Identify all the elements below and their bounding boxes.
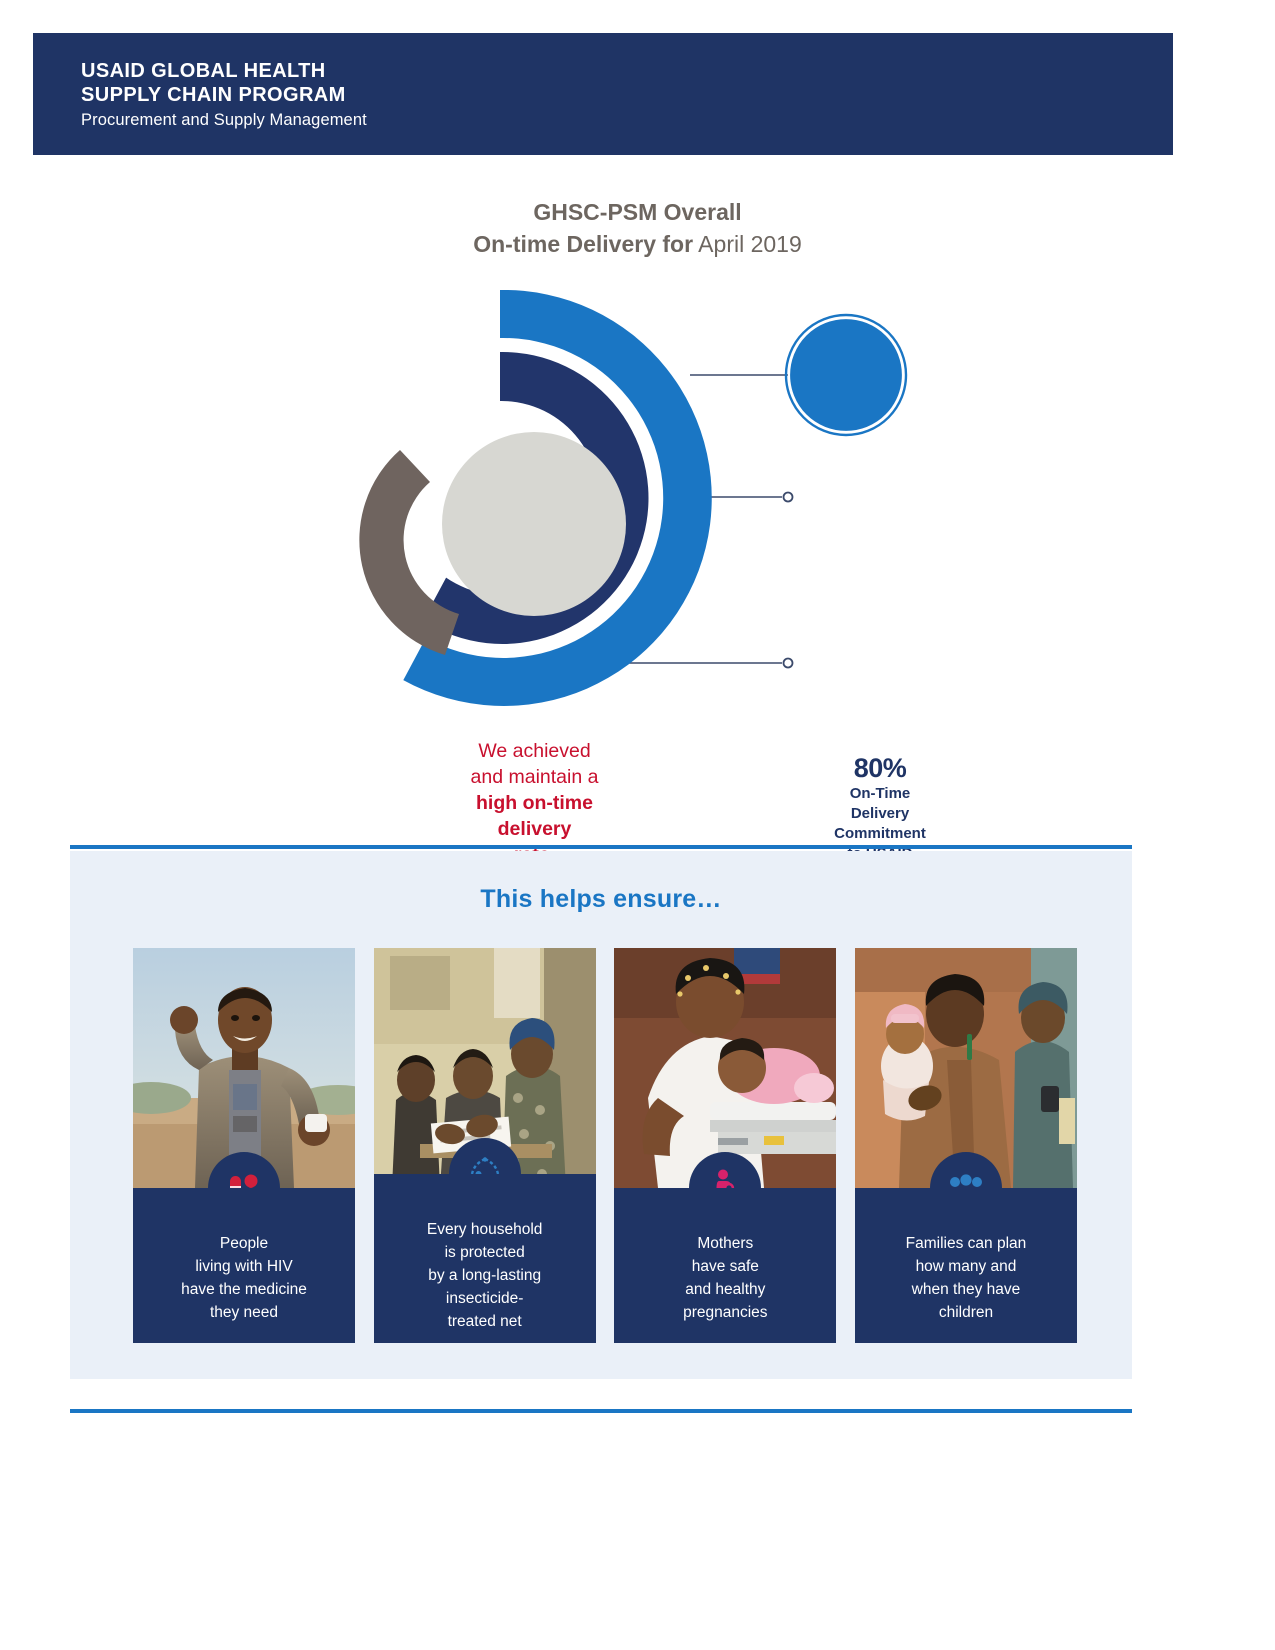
callout-88: 88% On-Time Delivery Rate	[787, 596, 905, 690]
badge-88-circle	[786, 315, 906, 435]
chart-title: GHSC-PSM Overall On-time Delivery for Ap…	[0, 196, 1275, 260]
chart-title-period: April 2019	[693, 231, 802, 257]
chart-title-bold: On-time Delivery for	[473, 231, 693, 257]
benefit-card-mothers[interactable]: Mothers have safe and healthy pregnancie…	[614, 948, 836, 1343]
panel-bottom-rule	[70, 1409, 1132, 1413]
header-bar: USAID GLOBAL HEALTH SUPPLY CHAIN PROGRAM…	[33, 33, 1173, 155]
center-line-3: high on-time	[476, 790, 593, 816]
card-photo-mothers	[614, 948, 836, 1188]
callout-80-value: 80%	[795, 752, 965, 784]
benefit-card-families[interactable]: Families can plan how many and when they…	[855, 948, 1077, 1343]
header-subtitle: Procurement and Supply Management	[81, 109, 367, 131]
card-caption-mothers: Mothers have safe and healthy pregnancie…	[614, 1188, 836, 1343]
card-caption-bednet: Every household is protected by a long-l…	[374, 1174, 596, 1343]
center-disc	[442, 432, 626, 616]
panel-heading: This helps ensure…	[70, 885, 1132, 914]
connector-dot-80	[784, 493, 793, 502]
chart-title-line2: On-time Delivery for April 2019	[0, 228, 1275, 260]
card-photo-bednet	[374, 948, 596, 1174]
bed-net-icon	[466, 1157, 504, 1174]
callout-88-description: On-Time Delivery Rate	[787, 630, 905, 690]
footer-logos: USAID US AID FROM THE AMERICAN PEOPLE PE…	[0, 1460, 1275, 1590]
center-line-2: and maintain a	[471, 764, 599, 790]
pregnant-woman-icon	[712, 1169, 738, 1188]
chart-title-line1: GHSC-PSM Overall	[0, 196, 1275, 228]
chart-svg	[0, 278, 1275, 798]
benefit-card-hiv[interactable]: People living with HIV have the medicine…	[133, 948, 355, 1343]
infographic-page: USAID GLOBAL HEALTH SUPPLY CHAIN PROGRAM…	[0, 0, 1275, 1650]
donut-gauge-chart: We achieved and maintain a high on-time …	[0, 278, 1275, 798]
card-caption-hiv: People living with HIV have the medicine…	[133, 1188, 355, 1343]
header-title-line1: USAID GLOBAL HEALTH	[81, 59, 367, 83]
header-title-line2: SUPPLY CHAIN PROGRAM	[81, 83, 367, 107]
panel-top-rule	[70, 845, 1132, 849]
card-caption-families: Families can plan how many and when they…	[855, 1188, 1077, 1343]
benefit-cards: People living with HIV have the medicine…	[133, 948, 1077, 1343]
callout-88-value: 88%	[787, 596, 905, 630]
center-line-1: We achieved	[478, 738, 590, 764]
card-photo-hiv	[133, 948, 355, 1188]
card-photo-families	[855, 948, 1077, 1188]
arc-inner-34	[359, 450, 459, 655]
benefit-card-bednet[interactable]: Every household is protected by a long-l…	[374, 948, 596, 1343]
header-text-block: USAID GLOBAL HEALTH SUPPLY CHAIN PROGRAM…	[81, 59, 367, 131]
family-group-icon	[947, 1174, 985, 1188]
center-line-4: delivery	[498, 816, 572, 842]
pills-icon	[227, 1171, 261, 1188]
